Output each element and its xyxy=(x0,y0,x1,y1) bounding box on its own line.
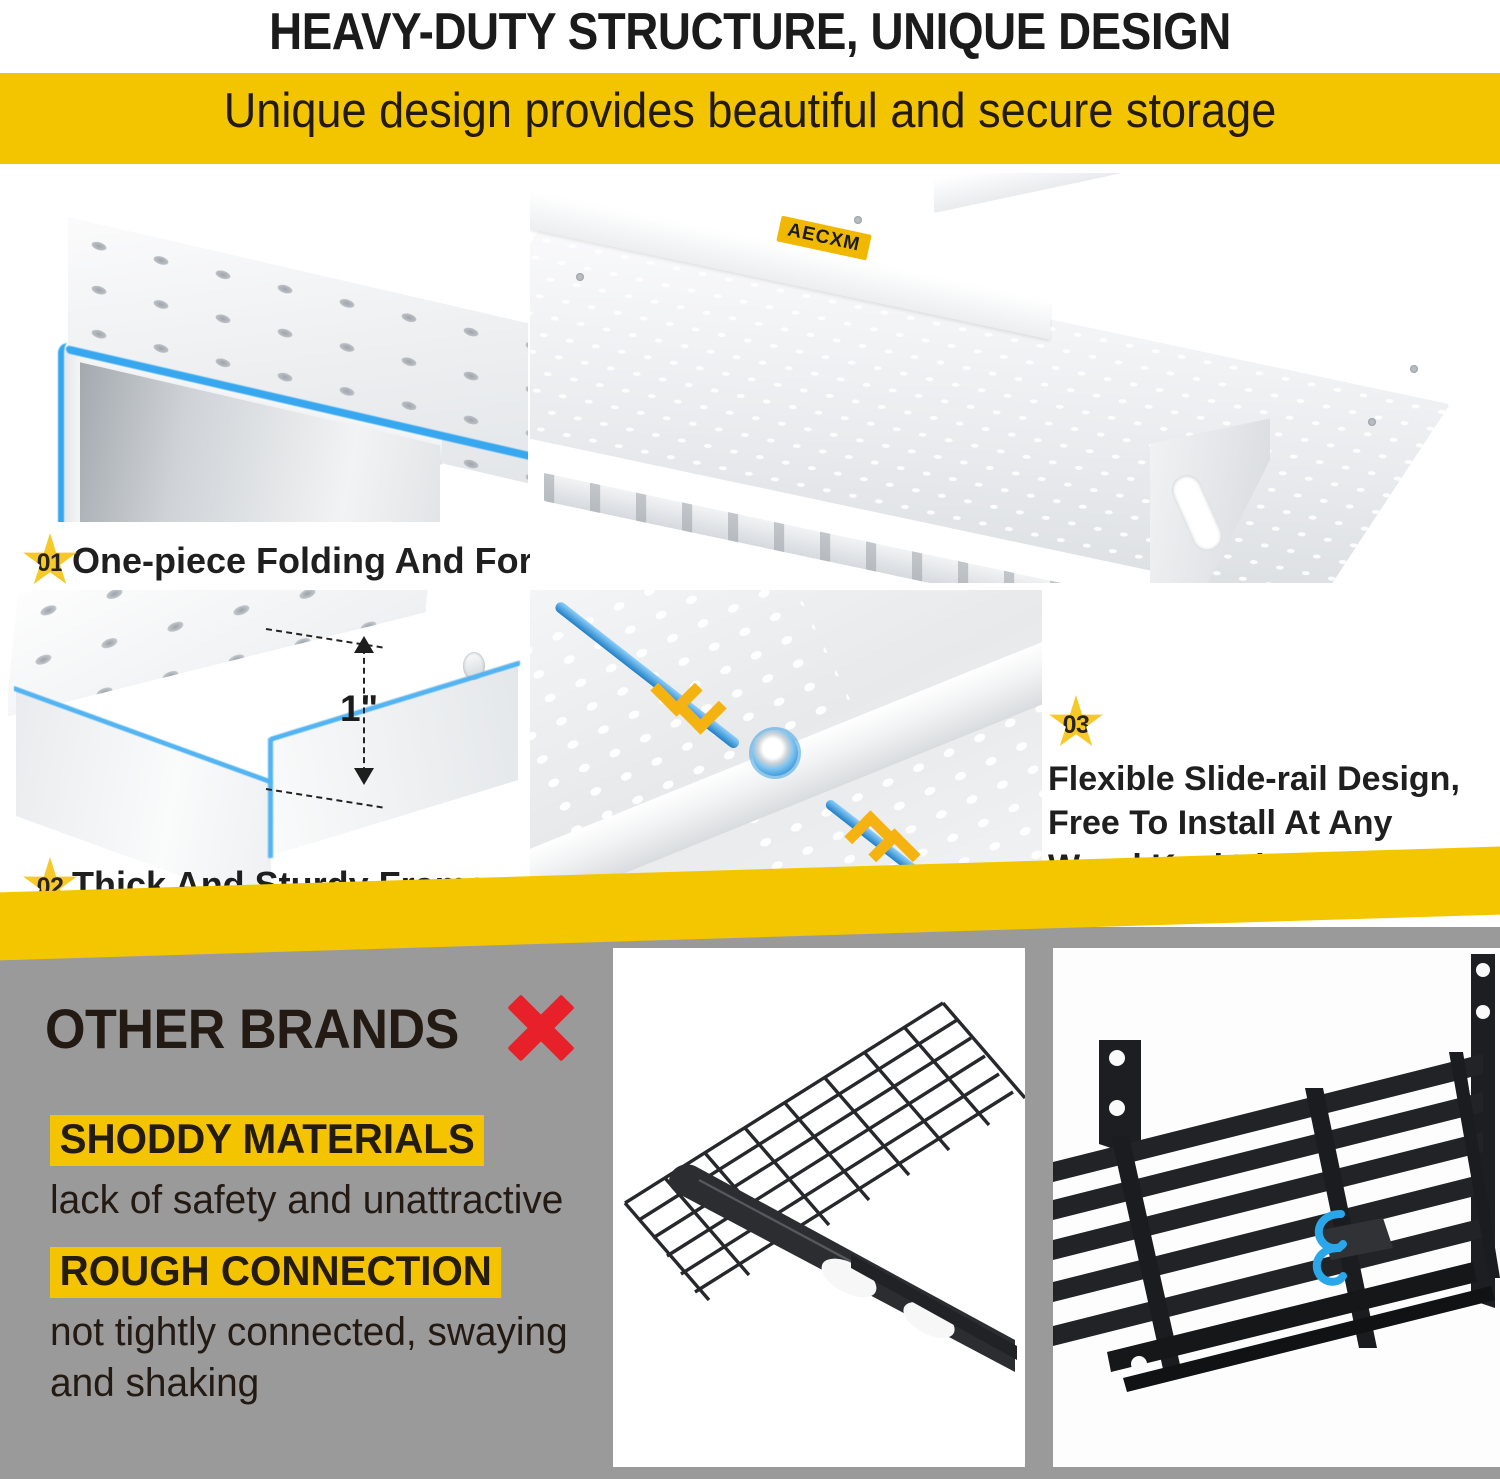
drawback-description: not tightly connected, swaying and shaki… xyxy=(50,1307,593,1409)
feature-number: 01 xyxy=(37,549,64,578)
dimension-arrow-down-icon xyxy=(354,768,374,785)
screw-icon xyxy=(1410,365,1418,373)
feature-number: 03 xyxy=(1063,711,1090,740)
star-badge-icon: 03 xyxy=(1048,695,1104,751)
black-slat-shelf-loose-bracket-photo xyxy=(1053,948,1500,1467)
features-section: 01 One-piece Folding And Forming 1" 02 xyxy=(0,165,1500,927)
wire-shelf-illustration xyxy=(613,948,1025,1467)
product-infographic: HEAVY-DUTY STRUCTURE, UNIQUE DESIGN Uniq… xyxy=(0,0,1500,1479)
black-wire-mesh-shelf-photo xyxy=(613,948,1025,1467)
screw-icon xyxy=(1368,418,1376,426)
slide-rail-closeup-photo xyxy=(530,590,1042,890)
header: HEAVY-DUTY STRUCTURE, UNIQUE DESIGN Uniq… xyxy=(0,0,1500,165)
rail-bolt-icon xyxy=(752,730,798,776)
other-brands-title: OTHER BRANDS xyxy=(45,995,574,1061)
folded-c-channel-edge-photo xyxy=(8,177,528,522)
dimension-arrow-up-icon xyxy=(354,636,374,653)
drawback-item: ROUGH CONNECTION not tightly connected, … xyxy=(50,1247,610,1409)
drawback-heading: SHODDY MATERIALS xyxy=(50,1115,484,1166)
side-rail xyxy=(934,173,1454,213)
blue-edge-highlight-vertical xyxy=(268,738,273,858)
corner-right-side-face xyxy=(270,660,518,856)
page-subtitle: Unique design provides beautiful and sec… xyxy=(60,83,1440,139)
shelf-corner-thickness-photo: 1" xyxy=(8,590,528,890)
star-badge-icon: 01 xyxy=(22,533,78,589)
drawback-item: SHODDY MATERIALS lack of safety and unat… xyxy=(50,1115,579,1226)
dimension-label: 1" xyxy=(340,688,378,730)
header-yellow-band: Unique design provides beautiful and sec… xyxy=(0,73,1500,164)
page-title: HEAVY-DUTY STRUCTURE, UNIQUE DESIGN xyxy=(90,2,1410,62)
screw-icon xyxy=(576,273,584,281)
blue-edge-highlight-front xyxy=(58,343,82,522)
other-brands-label: OTHER BRANDS xyxy=(45,996,459,1061)
red-x-icon xyxy=(508,995,574,1061)
white-perforated-overhead-rack-photo: AECXM xyxy=(530,173,1495,583)
slat-shelf-illustration xyxy=(1053,948,1500,1467)
drawback-description: lack of safety and unattractive xyxy=(50,1175,563,1226)
drawback-heading: ROUGH CONNECTION xyxy=(50,1247,502,1298)
screw-icon xyxy=(854,216,862,224)
